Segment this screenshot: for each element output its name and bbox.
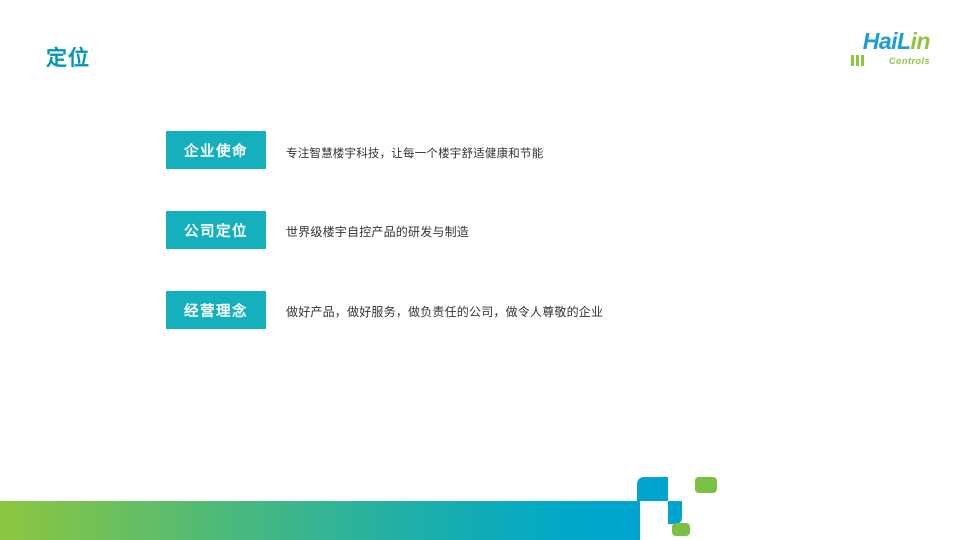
logo-subtitle: Controls: [889, 56, 930, 66]
item-tag-philosophy: 经营理念: [166, 291, 266, 329]
company-logo: HaiLin Controls: [822, 30, 930, 72]
list-item: 公司定位 世界级楼宇自控产品的研发与制造: [166, 211, 866, 250]
logo-word-part1: HaiL: [863, 28, 911, 54]
list-item: 经营理念 做好产品，做好服务，做负责任的公司，做令人尊敬的企业: [166, 291, 866, 330]
list-item: 企业使命 专注智慧楼宇科技，让每一个楼宇舒适健康和节能: [166, 131, 866, 170]
content-list: 企业使命 专注智慧楼宇科技，让每一个楼宇舒适健康和节能 公司定位 世界级楼宇自控…: [166, 131, 866, 371]
footer-square-blue-large: [637, 477, 668, 501]
footer-square-green-lower: [672, 523, 690, 536]
item-tag-positioning: 公司定位: [166, 211, 266, 249]
logo-bars-icon: [851, 55, 864, 66]
item-text-positioning: 世界级楼宇自控产品的研发与制造: [286, 223, 469, 240]
footer-gradient-bar: [0, 501, 640, 540]
logo-wordmark: HaiLin: [863, 30, 930, 53]
slide: 定位 HaiLin Controls 企业使命 专注智慧楼宇科技，让每一个楼宇舒…: [0, 0, 960, 540]
item-tag-mission: 企业使命: [166, 131, 266, 169]
page-title: 定位: [46, 42, 90, 72]
footer-square-blue-small: [668, 501, 682, 524]
logo-word-part2: in: [911, 28, 930, 54]
item-text-philosophy: 做好产品，做好服务，做负责任的公司，做令人尊敬的企业: [286, 303, 603, 320]
item-text-mission: 专注智慧楼宇科技，让每一个楼宇舒适健康和节能: [286, 145, 543, 161]
footer-square-green-upper: [695, 477, 717, 493]
